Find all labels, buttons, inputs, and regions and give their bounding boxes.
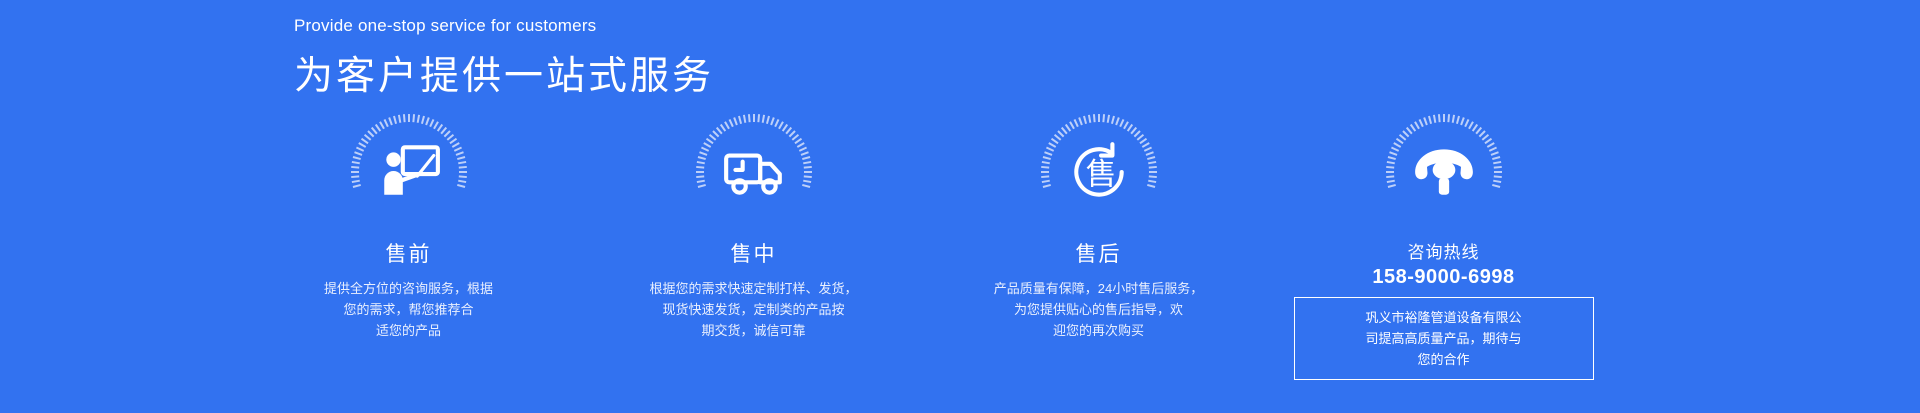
presenter-board-icon (376, 139, 442, 205)
hotline-label: 咨询热线 (1408, 238, 1480, 263)
service-card-insale[interactable]: 售中 根据您的需求快速定制打样、发货， 现货快速发货，定制类的产品按 期交货，诚… (581, 112, 926, 380)
company-desc-line: 您的合作 (1307, 349, 1581, 370)
service-card-presale[interactable]: 售前 提供全方位的咨询服务，根据 您的需求，帮您推荐合 适您的产品 (236, 112, 581, 380)
insale-desc-line: 期交货，诚信可靠 (649, 320, 857, 341)
service-card-hotline[interactable]: 咨询热线 158-9000-6998 巩义市裕隆管道设备有限公 司提高高质量产品… (1271, 112, 1616, 380)
after-sales-refresh-icon: 售 (1066, 139, 1132, 205)
company-desc-line: 司提高高质量产品，期待与 (1307, 328, 1581, 349)
insale-desc-line: 根据您的需求快速定制打样、发货， (649, 278, 857, 299)
insale-icon-wrap (694, 112, 814, 232)
banner-heading-block: Provide one-stop service for customers 为… (294, 16, 714, 101)
presale-icon-wrap (349, 112, 469, 232)
presale-desc-line: 提供全方位的咨询服务，根据 (324, 278, 493, 299)
insale-desc: 根据您的需求快速定制打样、发货， 现货快速发货，定制类的产品按 期交货，诚信可靠 (649, 278, 857, 341)
aftersale-title: 售后 (1076, 238, 1122, 268)
aftersale-desc-line: 产品质量有保障，24小时售后服务， (994, 278, 1203, 299)
aftersale-desc-line: 为您提供贴心的售后指导，欢 (994, 299, 1203, 320)
presale-desc: 提供全方位的咨询服务，根据 您的需求，帮您推荐合 适您的产品 (324, 278, 493, 341)
presale-desc-line: 适您的产品 (324, 320, 493, 341)
hotline-icon-wrap (1384, 112, 1504, 232)
company-description-box: 巩义市裕隆管道设备有限公 司提高高质量产品，期待与 您的合作 (1294, 297, 1594, 380)
service-cards: 售前 提供全方位的咨询服务，根据 您的需求，帮您推荐合 适您的产品 (236, 112, 1616, 380)
presale-desc-line: 您的需求，帮您推荐合 (324, 299, 493, 320)
service-card-aftersale[interactable]: 售 售后 产品质量有保障，24小时售后服务， 为您提供贴心的售后指导，欢 迎您的… (926, 112, 1271, 380)
after-sales-center-char: 售 (1085, 156, 1116, 191)
company-desc-line: 巩义市裕隆管道设备有限公 (1307, 307, 1581, 328)
aftersale-icon-wrap: 售 (1039, 112, 1159, 232)
aftersale-desc: 产品质量有保障，24小时售后服务， 为您提供贴心的售后指导，欢 迎您的再次购买 (994, 278, 1203, 341)
insale-desc-line: 现货快速发货，定制类的产品按 (649, 299, 857, 320)
insale-title: 售中 (731, 238, 777, 268)
banner-eyebrow: Provide one-stop service for customers (294, 16, 714, 36)
delivery-truck-clock-icon (721, 139, 787, 205)
service-banner: Provide one-stop service for customers 为… (0, 0, 1920, 413)
aftersale-desc-line: 迎您的再次购买 (994, 320, 1203, 341)
telephone-icon (1411, 139, 1477, 205)
banner-headline: 为客户提供一站式服务 (294, 45, 714, 101)
hotline-number[interactable]: 158-9000-6998 (1372, 266, 1514, 289)
presale-title: 售前 (386, 238, 432, 268)
